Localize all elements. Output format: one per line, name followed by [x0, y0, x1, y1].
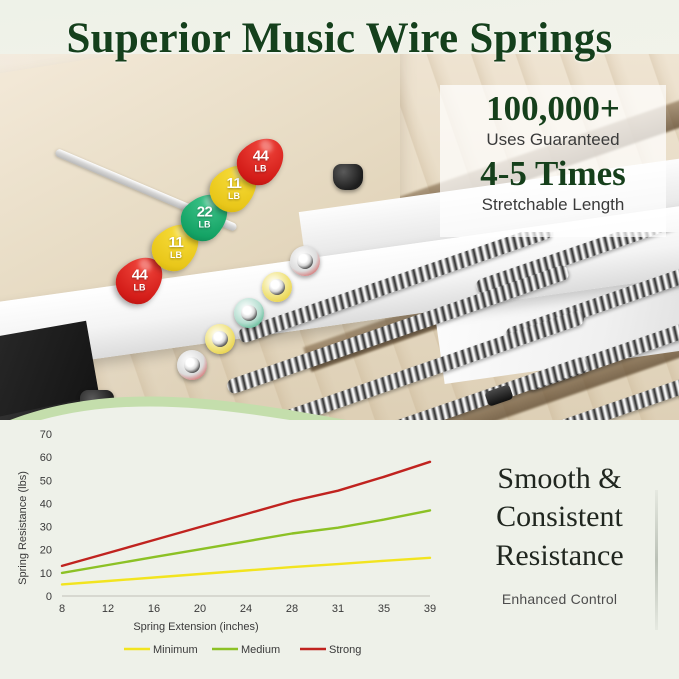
x-tick-label: 35 [378, 603, 390, 615]
weight-tag-value: 11 [227, 175, 242, 190]
x-tick-label: 39 [424, 603, 436, 615]
y-tick-label: 70 [40, 429, 52, 441]
bottom-section: 010203040506070 81216202428313539 Spring… [0, 420, 679, 679]
claim-stretch-label: Stretchable Length [450, 195, 656, 215]
resistance-knob-yellow [205, 324, 235, 354]
weight-tag-unit: LB [197, 221, 213, 230]
weight-tag-text: 11 LB [227, 175, 242, 200]
y-tick-label: 20 [40, 545, 52, 557]
y-tick-label: 10 [40, 568, 52, 580]
claim-uses-value: 100,000+ [450, 91, 656, 128]
resistance-knob-red [290, 246, 320, 276]
y-tick-label: 60 [40, 452, 52, 464]
x-tick-label: 31 [332, 603, 344, 615]
rubber-bumper [80, 390, 114, 420]
weight-tag-text: 44 LB [132, 268, 148, 293]
tagline-line-3: Resistance [452, 537, 667, 575]
chart-legend: MinimumMediumStrong [124, 644, 361, 656]
series-line-strong [62, 462, 430, 566]
x-tick-label: 12 [102, 603, 114, 615]
vertical-divider [655, 490, 658, 630]
x-tick-label: 20 [194, 603, 206, 615]
claim-stretch-value: 4-5 Times [450, 156, 656, 193]
weight-tag-value: 44 [253, 149, 269, 164]
weight-tag-unit: LB [132, 284, 148, 293]
weight-tag-value: 11 [169, 234, 184, 249]
weight-tag-text: 44 LB [253, 149, 269, 174]
y-tick-label: 0 [46, 591, 52, 603]
tagline-line-1: Smooth & [452, 460, 667, 498]
resistance-knob-red [177, 350, 207, 380]
weight-tag-text: 22 LB [197, 205, 213, 230]
weight-tag-value: 22 [197, 205, 213, 220]
weight-tag-value: 44 [132, 268, 148, 283]
claim-uses-label: Uses Guaranteed [450, 130, 656, 150]
x-axis-ticks: 81216202428313539 [59, 603, 436, 615]
tagline-line-2: Consistent [452, 498, 667, 536]
y-tick-label: 40 [40, 498, 52, 510]
claims-panel: 100,000+ Uses Guaranteed 4-5 Times Stret… [440, 85, 666, 237]
infographic-root: 44 LB 11 LB 22 LB 11 LB 44 LB [0, 0, 679, 679]
legend-label-medium: Medium [241, 644, 280, 656]
weight-tag-unit: LB [253, 165, 269, 174]
legend-label-minimum: Minimum [153, 644, 198, 656]
x-tick-label: 24 [240, 603, 252, 615]
hero-section: 44 LB 11 LB 22 LB 11 LB 44 LB [0, 0, 679, 420]
x-axis-title: Spring Extension (inches) [133, 621, 258, 633]
x-tick-label: 8 [59, 603, 65, 615]
series-line-medium [62, 510, 430, 573]
tagline-subtitle: Enhanced Control [452, 591, 667, 607]
y-tick-label: 30 [40, 522, 52, 534]
spring-resistance-chart: 010203040506070 81216202428313539 Spring… [0, 420, 450, 679]
tagline-block: Smooth & Consistent Resistance Enhanced … [452, 460, 667, 660]
resistance-knob-green [234, 298, 264, 328]
y-axis-ticks: 010203040506070 [40, 429, 52, 603]
weight-tag-unit: LB [227, 191, 242, 200]
y-tick-label: 50 [40, 475, 52, 487]
rubber-bumper [333, 164, 363, 190]
x-tick-label: 28 [286, 603, 298, 615]
x-tick-label: 16 [148, 603, 160, 615]
chart-svg: 010203040506070 81216202428313539 Spring… [0, 420, 450, 679]
weight-tag-text: 11 LB [169, 234, 184, 259]
chart-series [62, 462, 430, 585]
legend-label-strong: Strong [329, 644, 361, 656]
page-title: Superior Music Wire Springs [0, 14, 679, 63]
y-axis-title: Spring Resistance (lbs) [17, 471, 29, 585]
resistance-knob-yellow [262, 272, 292, 302]
weight-tag-unit: LB [169, 250, 184, 259]
series-line-minimum [62, 558, 430, 585]
